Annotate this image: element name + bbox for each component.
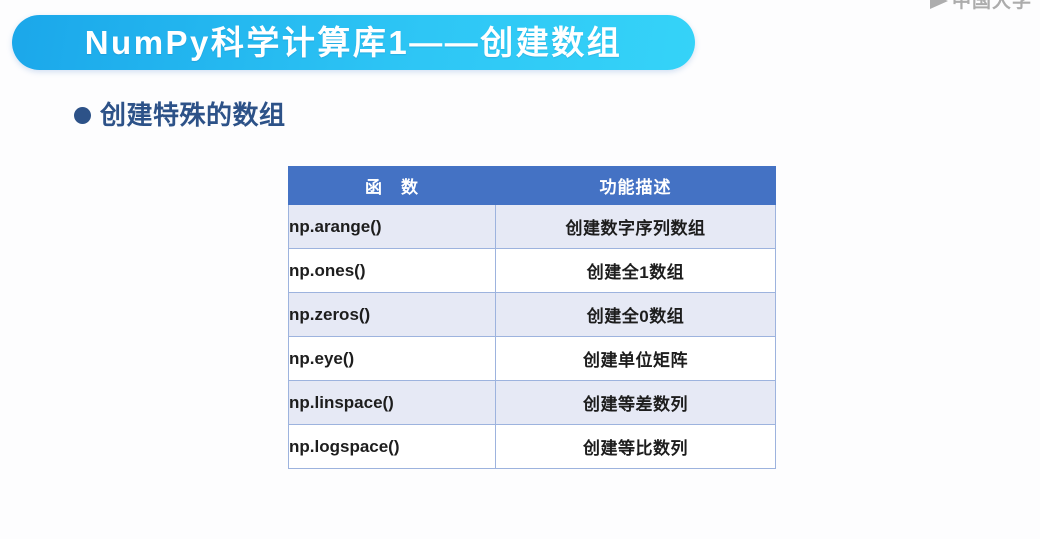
numpy-function-table: 函 数 功能描述 np.arange() 创建数字序列数组 np.ones() …	[288, 166, 776, 469]
table-row: np.linspace() 创建等差数列	[289, 381, 776, 425]
cell-function-description: 创建单位矩阵	[496, 337, 776, 381]
table-body: np.arange() 创建数字序列数组 np.ones() 创建全1数组 np…	[289, 205, 776, 469]
slide-title-banner: NumPy科学计算库1——创建数组	[12, 15, 695, 70]
cell-function-name: np.eye()	[289, 337, 496, 381]
cell-function-description: 创建等比数列	[496, 425, 776, 469]
watermark: 中国大学	[930, 0, 1032, 14]
cell-function-description: 创建全1数组	[496, 249, 776, 293]
table-header: 函 数 功能描述	[289, 167, 776, 205]
cell-function-name: np.ones()	[289, 249, 496, 293]
table-row: np.eye() 创建单位矩阵	[289, 337, 776, 381]
table-header-row: 函 数 功能描述	[289, 167, 776, 205]
cell-function-name: np.linspace()	[289, 381, 496, 425]
section-heading-label: 创建特殊的数组	[100, 102, 286, 128]
column-header-function: 函 数	[289, 167, 496, 205]
cell-function-description: 创建等差数列	[496, 381, 776, 425]
cell-function-description: 创建数字序列数组	[496, 205, 776, 249]
cell-function-description: 创建全0数组	[496, 293, 776, 337]
cell-function-name: np.logspace()	[289, 425, 496, 469]
column-header-description: 功能描述	[496, 167, 776, 205]
table-row: np.zeros() 创建全0数组	[289, 293, 776, 337]
table-row: np.logspace() 创建等比数列	[289, 425, 776, 469]
section-heading: 创建特殊的数组	[74, 102, 286, 128]
watermark-label: 中国大学	[952, 0, 1032, 11]
play-triangle-icon	[930, 0, 948, 9]
bullet-dot-icon	[74, 107, 91, 124]
cell-function-name: np.zeros()	[289, 293, 496, 337]
table-row: np.arange() 创建数字序列数组	[289, 205, 776, 249]
table-row: np.ones() 创建全1数组	[289, 249, 776, 293]
cell-function-name: np.arange()	[289, 205, 496, 249]
page-title: NumPy科学计算库1——创建数组	[85, 26, 623, 59]
